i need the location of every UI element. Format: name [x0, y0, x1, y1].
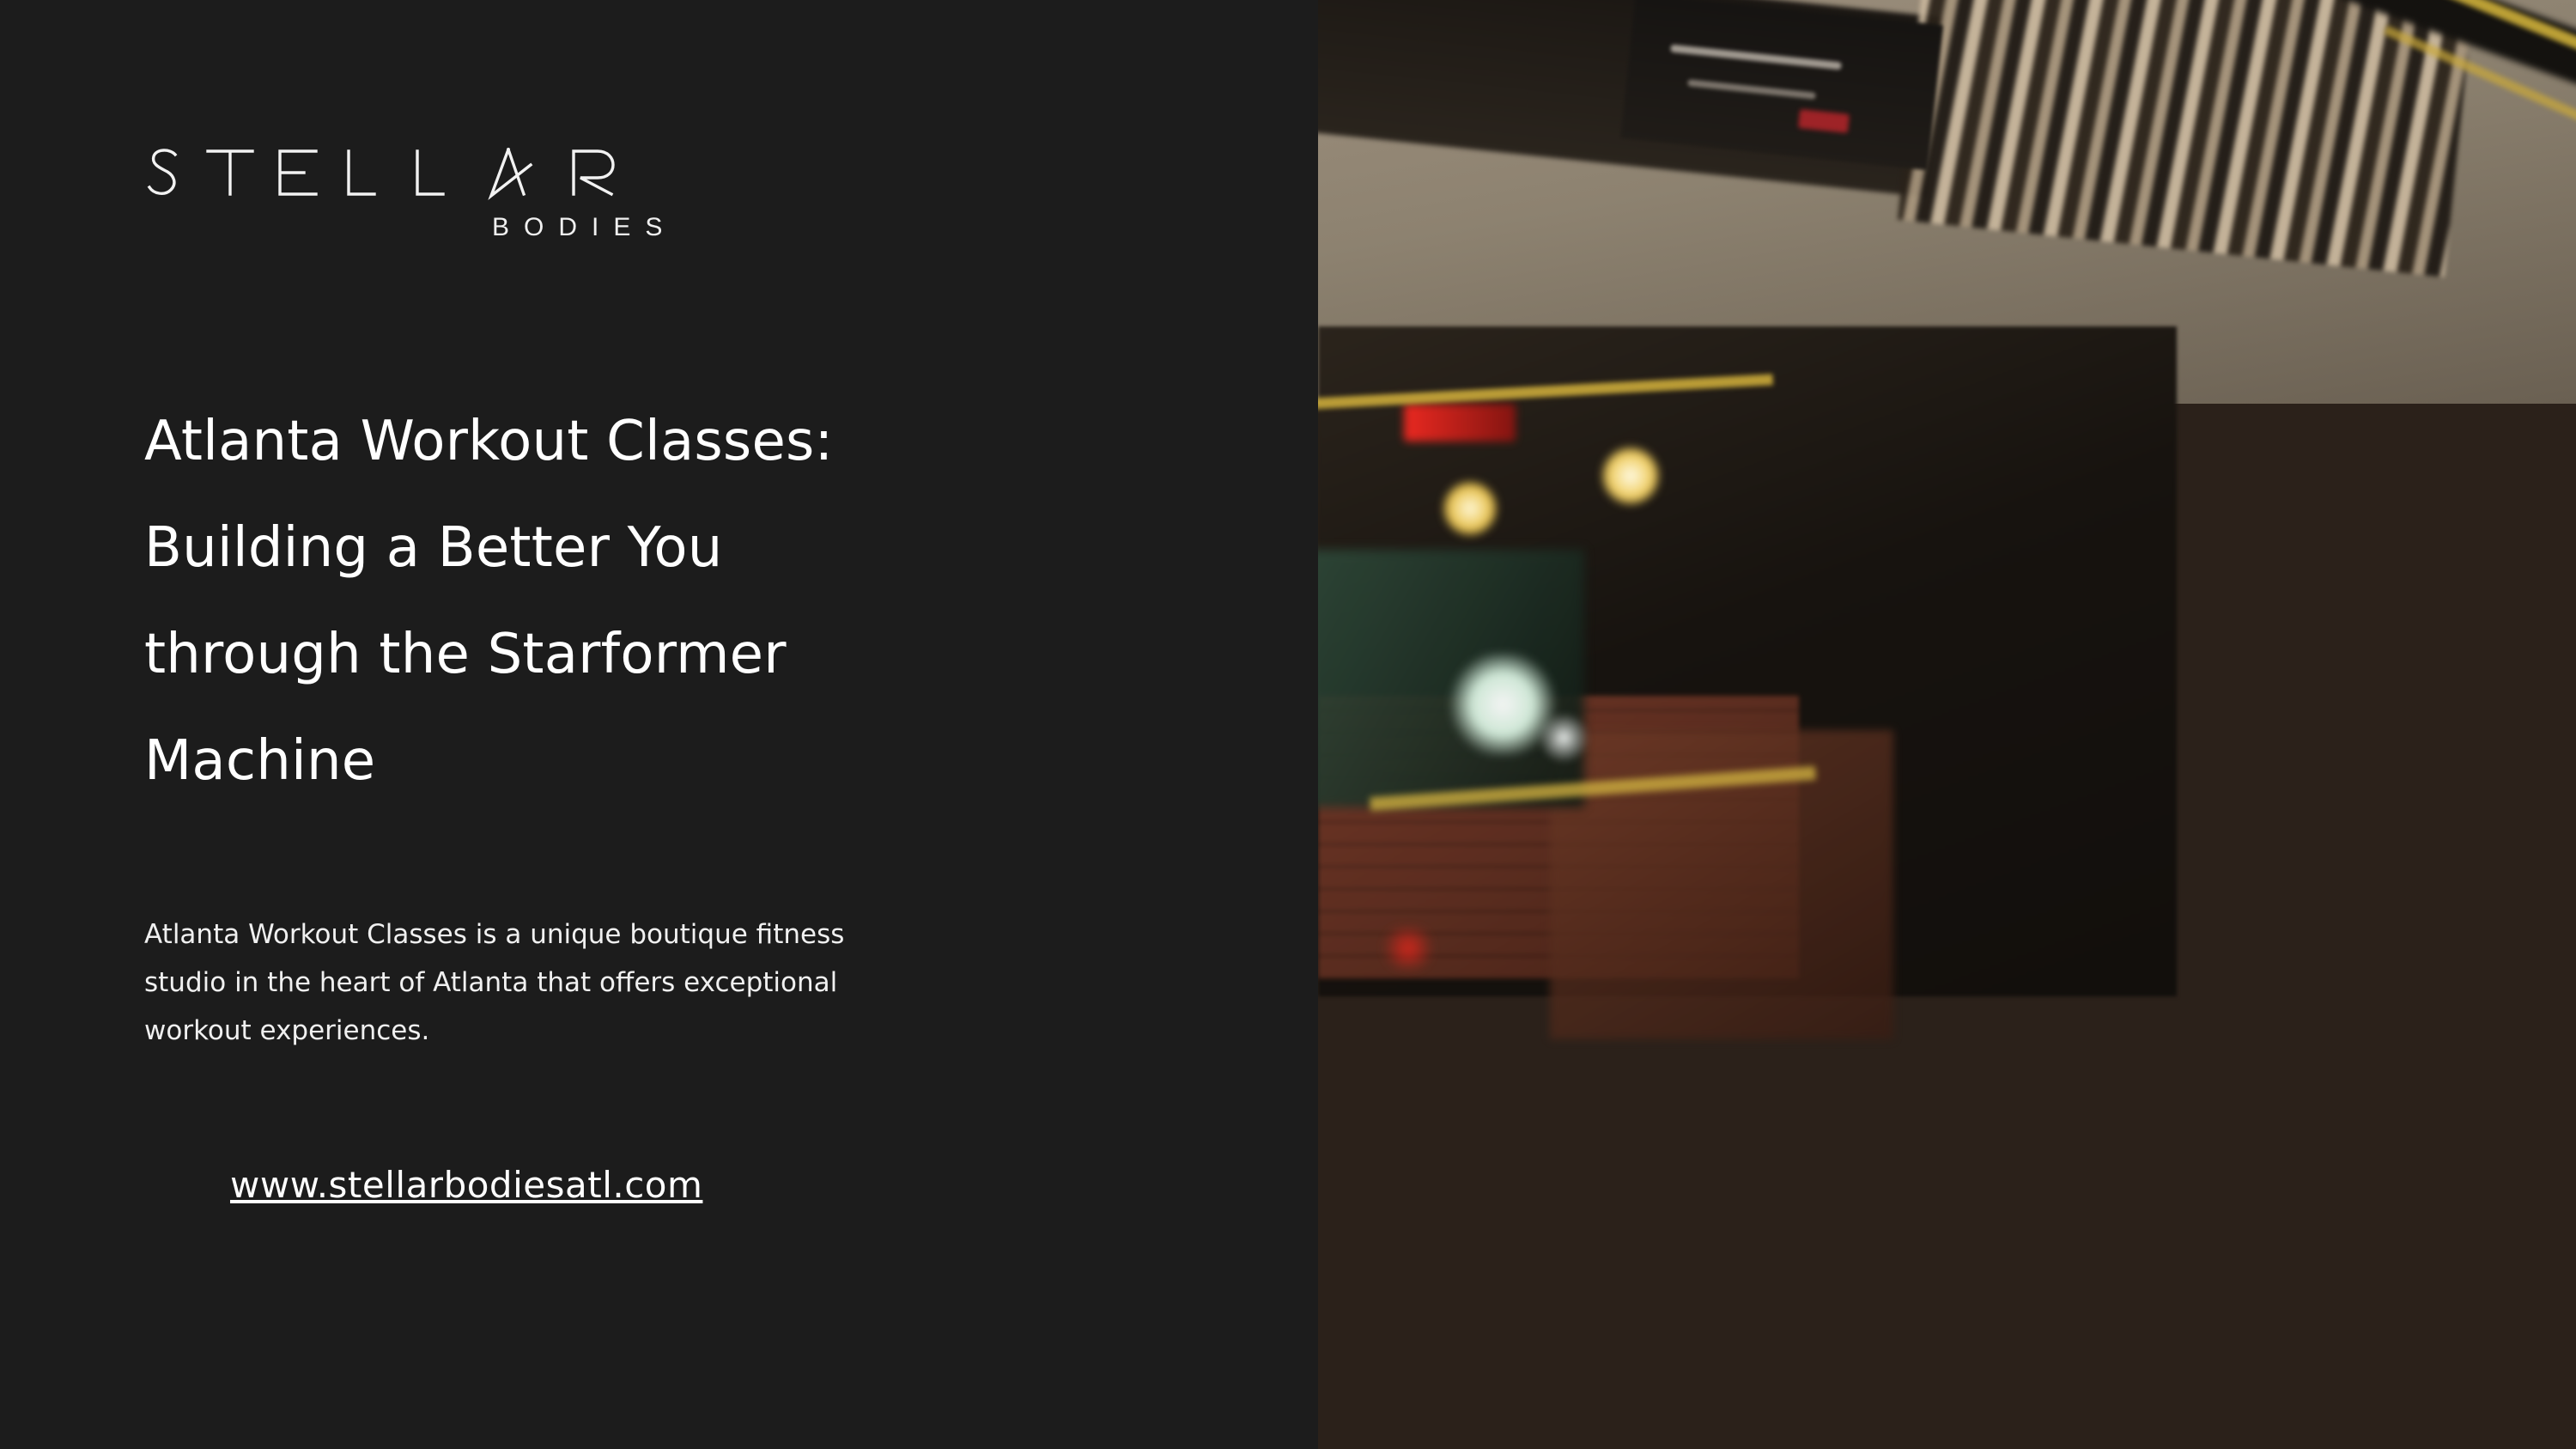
- headline-line-1: Atlanta Workout Classes:: [144, 388, 1157, 495]
- body-line-2: studio in the heart of Atlanta that offe…: [144, 959, 1106, 1007]
- body-line-1: Atlanta Workout Classes is a unique bout…: [144, 910, 1106, 959]
- red-light-glow: [1378, 928, 1438, 969]
- headline-line-3: through the Starformer: [144, 601, 1157, 708]
- window-light-glow: [1537, 713, 1590, 763]
- brand-logo-subword: BODIES: [492, 215, 677, 240]
- page-title: Atlanta Workout Classes: Building a Bett…: [144, 388, 1157, 815]
- red-led-sign: [1404, 404, 1516, 441]
- description-text: Atlanta Workout Classes is a unique bout…: [144, 910, 1106, 1055]
- headline-line-4: Machine: [144, 708, 1157, 814]
- stellar-wordmark-icon: [144, 136, 694, 213]
- ceiling-light-bokeh: [1601, 447, 1660, 505]
- body-line-3: workout experiences.: [144, 1007, 1106, 1055]
- ceiling-light-bokeh: [1443, 481, 1498, 536]
- brand-logo[interactable]: BODIES: [144, 136, 694, 265]
- promo-banner: BODIES Atlanta Workout Classes: Building…: [0, 0, 2576, 1449]
- website-url-link[interactable]: www.stellarbodiesatl.com: [230, 1164, 702, 1206]
- content-panel: BODIES Atlanta Workout Classes: Building…: [0, 0, 1318, 1449]
- hero-photo: [1318, 0, 2576, 1449]
- headline-line-2: Building a Better You: [144, 495, 1157, 601]
